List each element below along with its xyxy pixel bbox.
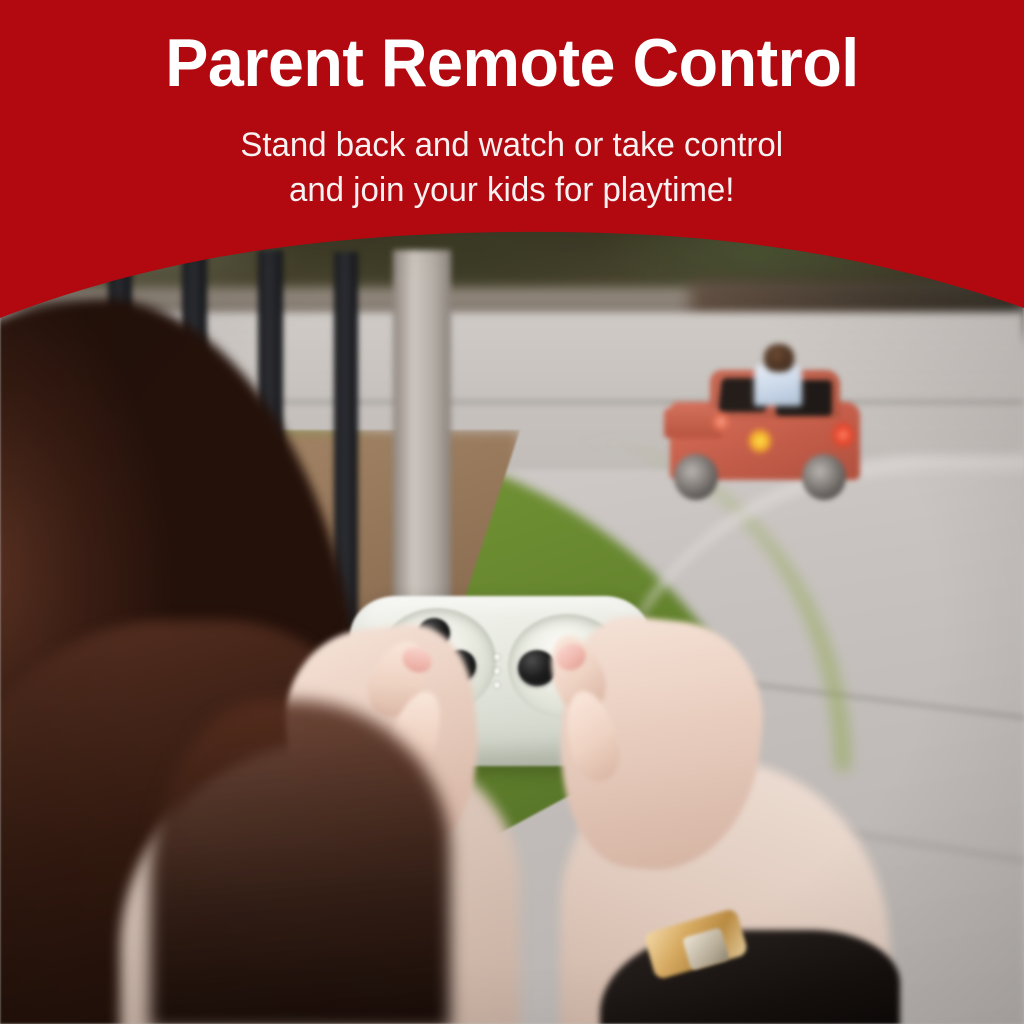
suv-wheel-rear [802, 454, 846, 500]
remote-led-indicator-2 [494, 668, 500, 674]
banner-subtitle-line-1: Stand back and watch or take control [241, 126, 784, 164]
remote-led-indicator-3 [494, 682, 500, 688]
ride-on-suv [650, 350, 880, 520]
banner-subtitle: Stand back and watch or take control and… [241, 123, 784, 213]
suv-turn-signal-light [748, 428, 772, 454]
suv-wheel-front [674, 454, 718, 500]
page-title: Parent Remote Control [165, 28, 859, 99]
suv-tail-light-left [712, 412, 730, 432]
parent-hair-strand-foreground [150, 700, 450, 1024]
suv-tail-light-right [832, 422, 854, 448]
promo-poster: Parent Remote Control Stand back and wat… [0, 0, 1024, 1024]
child-rider-head [764, 344, 794, 372]
banner-text-block: Parent Remote Control Stand back and wat… [0, 0, 1024, 260]
remote-led-indicator-1 [494, 654, 500, 660]
banner-subtitle-line-2: and join your kids for playtime! [241, 168, 784, 213]
